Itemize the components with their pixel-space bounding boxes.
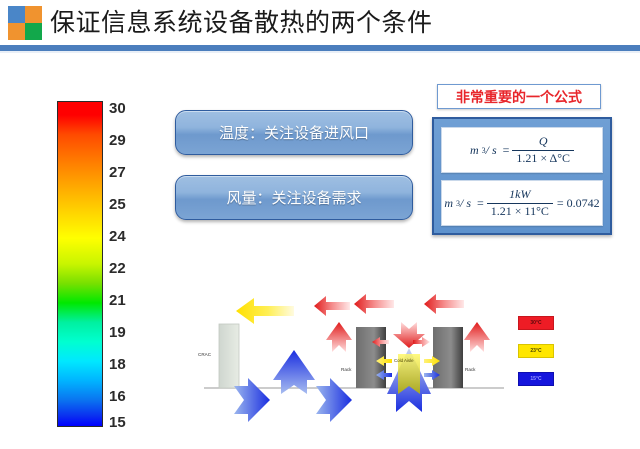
color-scale-tick-21: 21	[109, 293, 126, 308]
hot-air-recirculation-down-arrow	[393, 322, 425, 348]
color-scale-tick-30: 30	[109, 101, 126, 116]
temperature-color-scale: 30 29 27 25 24 22 21 19 18 16 15	[57, 101, 137, 429]
logo-quadrant-top-left	[8, 6, 25, 23]
crac-label: CRAC	[198, 352, 212, 357]
four-square-logo-icon	[8, 6, 42, 40]
cold-aisle-label: Cold Aisle	[394, 358, 414, 363]
hot-air-up-arrow-right	[464, 322, 490, 352]
formula-general-lhs-unit: m	[470, 143, 479, 158]
formula-example-fraction: 1kW 1.21 × 11°C	[487, 188, 553, 219]
legend-label-warm-air: 23°C	[530, 349, 541, 354]
color-scale-tick-24: 24	[109, 229, 126, 244]
formula-general-lhs-rest: / s	[486, 143, 497, 158]
formula-panel-heading-label: 非常重要的一个公式	[456, 87, 582, 107]
rack-right	[433, 327, 463, 388]
formula-card-example: m3 / s = 1kW 1.21 × 11°C = 0.0742	[441, 180, 603, 226]
formula-example-lhs-unit: m	[444, 196, 453, 211]
hot-air-exhaust-arrow-3	[424, 292, 464, 314]
formula-general: m3 / s = Q 1.21 × Δ°C	[470, 135, 574, 166]
condition-box-airflow[interactable]: 风量：关注设备需求	[175, 175, 413, 220]
formula-example: m3 / s = 1kW 1.21 × 11°C = 0.0742	[444, 188, 599, 219]
condition-box-temperature[interactable]: 温度：关注设备进风口	[175, 110, 413, 155]
formula-general-denominator: 1.21 × Δ°C	[512, 150, 574, 166]
formula-example-lhs-rest: / s	[460, 196, 471, 211]
slide-header: 保证信息系统设备散热的两个条件	[0, 0, 640, 46]
legend-label-cold-air: 15°C	[530, 377, 541, 382]
legend-swatch-warm-air: 23°C	[518, 344, 554, 358]
formula-example-numerator: 1kW	[505, 188, 534, 203]
legend-swatch-cold-air: 15°C	[518, 372, 554, 386]
formula-panel: m3 / s = Q 1.21 × Δ°C m3 / s = 1kW 1.21 …	[432, 117, 612, 235]
rack-label-left: Rack	[341, 367, 352, 372]
page-title: 保证信息系统设备散热的两个条件	[50, 2, 433, 44]
formula-card-general: m3 / s = Q 1.21 × Δ°C	[441, 127, 603, 173]
color-scale-tick-18: 18	[109, 357, 126, 372]
hot-air-up-arrow-left	[326, 322, 352, 352]
color-scale-tick-15: 15	[109, 415, 126, 430]
color-scale-gradient	[57, 101, 103, 427]
header-divider-shadow	[0, 51, 640, 53]
legend-label-hot-air: 30°C	[530, 321, 541, 326]
color-scale-tick-27: 27	[109, 165, 126, 180]
logo-quadrant-bottom-left	[8, 23, 25, 40]
formula-example-denominator: 1.21 × 11°C	[487, 203, 553, 219]
return-air-arrow-yellow	[236, 294, 294, 328]
color-scale-tick-25: 25	[109, 197, 126, 212]
hot-air-exhaust-arrow-2	[354, 292, 394, 314]
logo-quadrant-bottom-right	[25, 23, 42, 40]
formula-example-result: = 0.0742	[557, 196, 600, 211]
color-scale-tick-19: 19	[109, 325, 126, 340]
formula-panel-heading: 非常重要的一个公式	[437, 84, 601, 109]
supply-air-arrow-2	[316, 378, 352, 422]
airflow-svg: CRAC Rack Rack	[186, 282, 636, 448]
condition-box-temperature-label: 温度：关注设备进风口	[219, 122, 369, 143]
color-scale-tick-22: 22	[109, 261, 126, 276]
logo-quadrant-top-right	[25, 6, 42, 23]
rack-label-right: Rack	[465, 367, 476, 372]
crac-unit	[219, 324, 239, 388]
data-center-airflow-diagram: CRAC Rack Rack	[186, 282, 636, 448]
formula-example-equals: =	[477, 196, 484, 211]
formula-general-numerator: Q	[535, 135, 552, 150]
condition-box-airflow-label: 风量：关注设备需求	[226, 187, 361, 208]
color-scale-tick-29: 29	[109, 133, 126, 148]
formula-general-equals: =	[503, 143, 510, 158]
legend-swatch-hot-air: 30°C	[518, 316, 554, 330]
color-scale-tick-16: 16	[109, 389, 126, 404]
rack-left	[356, 327, 386, 388]
hot-air-exhaust-arrow-1	[314, 294, 350, 316]
formula-general-fraction: Q 1.21 × Δ°C	[512, 135, 574, 166]
